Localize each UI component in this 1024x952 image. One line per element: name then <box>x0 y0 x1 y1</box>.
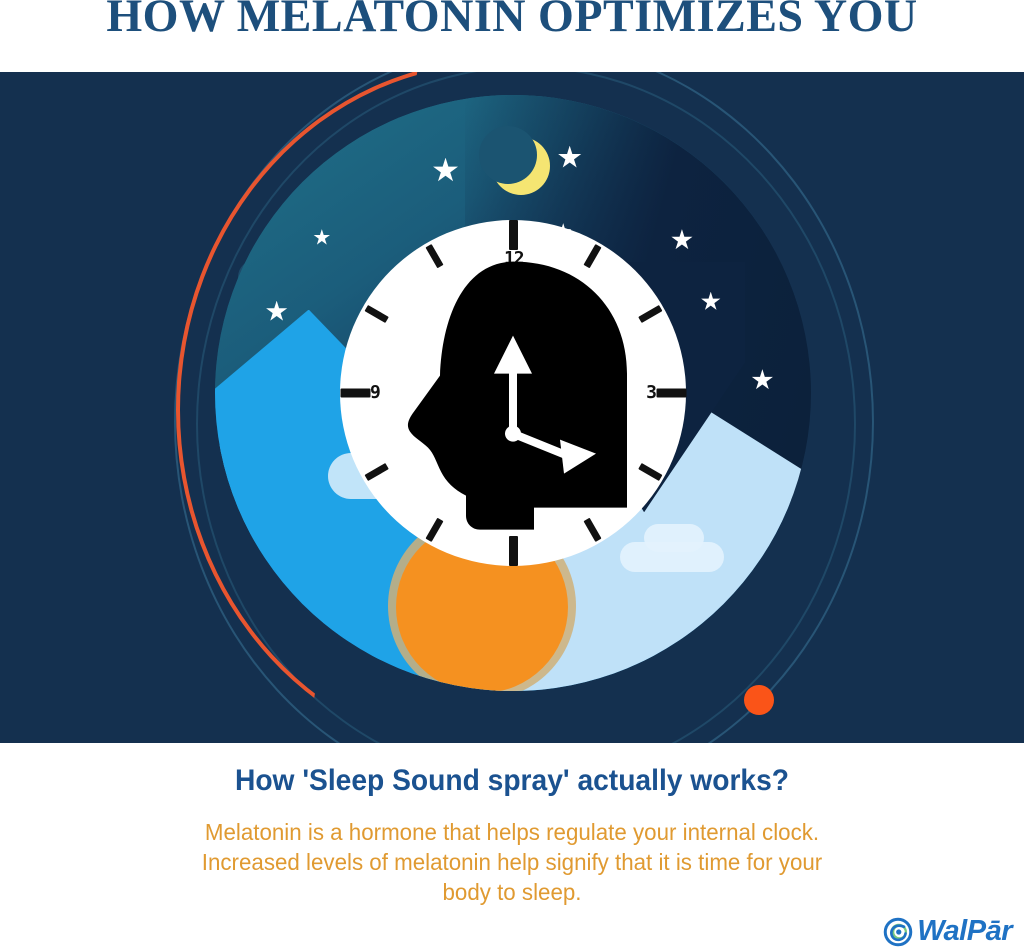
head-silhouette-icon <box>384 258 642 540</box>
clock-face: 12 3 6 9 <box>340 220 686 566</box>
clock-numeral-3: 3 <box>646 384 656 402</box>
walpar-logo[interactable]: WalPār <box>883 915 1012 948</box>
clock-tick-12 <box>509 220 518 250</box>
cloud-shape <box>644 524 704 552</box>
footer-section: How 'Sleep Sound spray' actually works? … <box>0 743 1024 952</box>
logo-text: WalPār <box>917 915 1012 948</box>
body-line-1: Melatonin is a hormone that helps regula… <box>132 817 892 847</box>
title-band: HOW MELATONIN OPTIMIZES YOU <box>0 0 1024 72</box>
clock-tick-9 <box>340 389 370 398</box>
clock-numeral-9: 9 <box>370 384 380 402</box>
clock-tick-3 <box>656 389 686 398</box>
page-title: HOW MELATONIN OPTIMIZES YOU <box>10 0 1014 43</box>
body-copy: Melatonin is a hormone that helps regula… <box>132 817 892 907</box>
sub-heading: How 'Sleep Sound spray' actually works? <box>31 764 994 798</box>
circadian-scene-circle: 12 3 6 9 <box>215 95 811 691</box>
hero-illustration-panel: 12 3 6 9 <box>0 72 1024 743</box>
crescent-moon-icon <box>492 137 550 195</box>
body-line-3: body to sleep. <box>132 877 892 907</box>
infographic-page: HOW MELATONIN OPTIMIZES YOU <box>0 0 1024 952</box>
clock-tick-6 <box>509 536 518 566</box>
body-line-2: Increased levels of melatonin help signi… <box>132 847 892 877</box>
swirl-icon <box>883 917 913 947</box>
